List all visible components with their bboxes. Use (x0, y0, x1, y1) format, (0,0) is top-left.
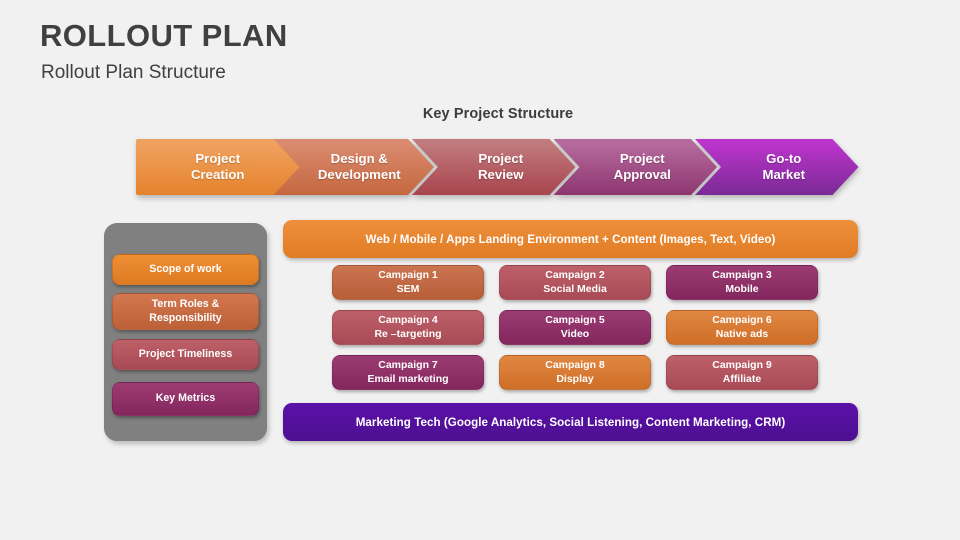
sidebar-item-4[interactable]: Key Metrics (112, 382, 259, 416)
campaign-card-3[interactable]: Campaign 3Mobile (666, 265, 818, 300)
campaign-card-title: Campaign 1 (378, 269, 438, 283)
process-step-label-line1: Project (191, 151, 245, 167)
campaign-row: Campaign 4Re –targetingCampaign 5VideoCa… (332, 310, 818, 345)
campaign-card-subtitle: Display (556, 373, 593, 387)
marketing-tech-bar[interactable]: Marketing Tech (Google Analytics, Social… (283, 403, 858, 441)
process-flow-chevrons: ProjectCreationDesign &DevelopmentProjec… (136, 139, 846, 195)
campaign-card-subtitle: Native ads (716, 328, 769, 342)
campaign-card-8[interactable]: Campaign 8Display (499, 355, 651, 390)
campaign-card-title: Campaign 4 (378, 314, 438, 328)
landing-environment-label: Web / Mobile / Apps Landing Environment … (366, 233, 776, 246)
marketing-tech-label: Marketing Tech (Google Analytics, Social… (356, 416, 786, 429)
campaign-card-title: Campaign 9 (712, 359, 772, 373)
campaign-grid: Campaign 1SEMCampaign 2Social MediaCampa… (332, 265, 818, 390)
campaign-card-4[interactable]: Campaign 4Re –targeting (332, 310, 484, 345)
landing-environment-bar[interactable]: Web / Mobile / Apps Landing Environment … (283, 220, 858, 258)
campaign-card-subtitle: Mobile (725, 283, 758, 297)
process-step-label-line1: Design & (318, 151, 401, 167)
process-step-label-line2: Creation (191, 167, 245, 183)
campaign-card-6[interactable]: Campaign 6Native ads (666, 310, 818, 345)
campaign-card-title: Campaign 7 (378, 359, 438, 373)
campaign-card-subtitle: Social Media (543, 283, 607, 297)
process-step-label-line2: Approval (614, 167, 671, 183)
campaign-card-title: Campaign 2 (545, 269, 605, 283)
campaign-card-title: Campaign 5 (545, 314, 605, 328)
campaign-card-subtitle: SEM (397, 283, 420, 297)
process-step-3[interactable]: ProjectReview (412, 139, 576, 195)
sidebar-item-label: Scope of work (149, 263, 221, 276)
campaign-card-title: Campaign 6 (712, 314, 772, 328)
campaign-card-subtitle: Affiliate (723, 373, 762, 387)
campaign-card-9[interactable]: Campaign 9Affiliate (666, 355, 818, 390)
process-step-1[interactable]: ProjectCreation (136, 139, 300, 195)
campaign-card-subtitle: Email marketing (367, 373, 448, 387)
process-step-label-line1: Project (614, 151, 671, 167)
process-step-label-line2: Development (318, 167, 401, 183)
campaign-row: Campaign 1SEMCampaign 2Social MediaCampa… (332, 265, 818, 300)
campaign-card-subtitle: Video (561, 328, 589, 342)
process-step-label-line1: Project (478, 151, 523, 167)
sidebar-item-label: Term Roles & (149, 298, 221, 311)
section-heading-text: Key Project Structure (423, 106, 573, 122)
campaign-card-subtitle: Re –targeting (374, 328, 441, 342)
page-subtitle: Rollout Plan Structure (41, 62, 226, 84)
campaign-card-2[interactable]: Campaign 2Social Media (499, 265, 651, 300)
campaign-card-1[interactable]: Campaign 1SEM (332, 265, 484, 300)
sidebar-item-label: Project Timeliness (139, 348, 232, 361)
sidebar-item-label-line2: Responsibility (149, 312, 221, 325)
sidebar-item-2[interactable]: Term Roles &Responsibility (112, 293, 259, 330)
campaign-card-title: Campaign 3 (712, 269, 772, 283)
process-step-label-line2: Market (762, 167, 805, 183)
campaign-card-title: Campaign 8 (545, 359, 605, 373)
campaign-card-7[interactable]: Campaign 7Email marketing (332, 355, 484, 390)
slide-canvas: ROLLOUT PLAN Rollout Plan Structure Key … (0, 0, 960, 540)
process-step-label-line1: Go-to (762, 151, 805, 167)
process-step-label-line2: Review (478, 167, 523, 183)
process-step-5[interactable]: Go-toMarket (695, 139, 859, 195)
process-step-4[interactable]: ProjectApproval (554, 139, 718, 195)
campaign-card-5[interactable]: Campaign 5Video (499, 310, 651, 345)
campaign-row: Campaign 7Email marketingCampaign 8Displ… (332, 355, 818, 390)
sidebar-item-3[interactable]: Project Timeliness (112, 339, 259, 370)
sidebar-item-1[interactable]: Scope of work (112, 254, 259, 285)
section-heading: Key Project Structure (0, 106, 960, 122)
sidebar-item-label: Key Metrics (156, 392, 215, 405)
page-title: ROLLOUT PLAN (40, 18, 288, 54)
